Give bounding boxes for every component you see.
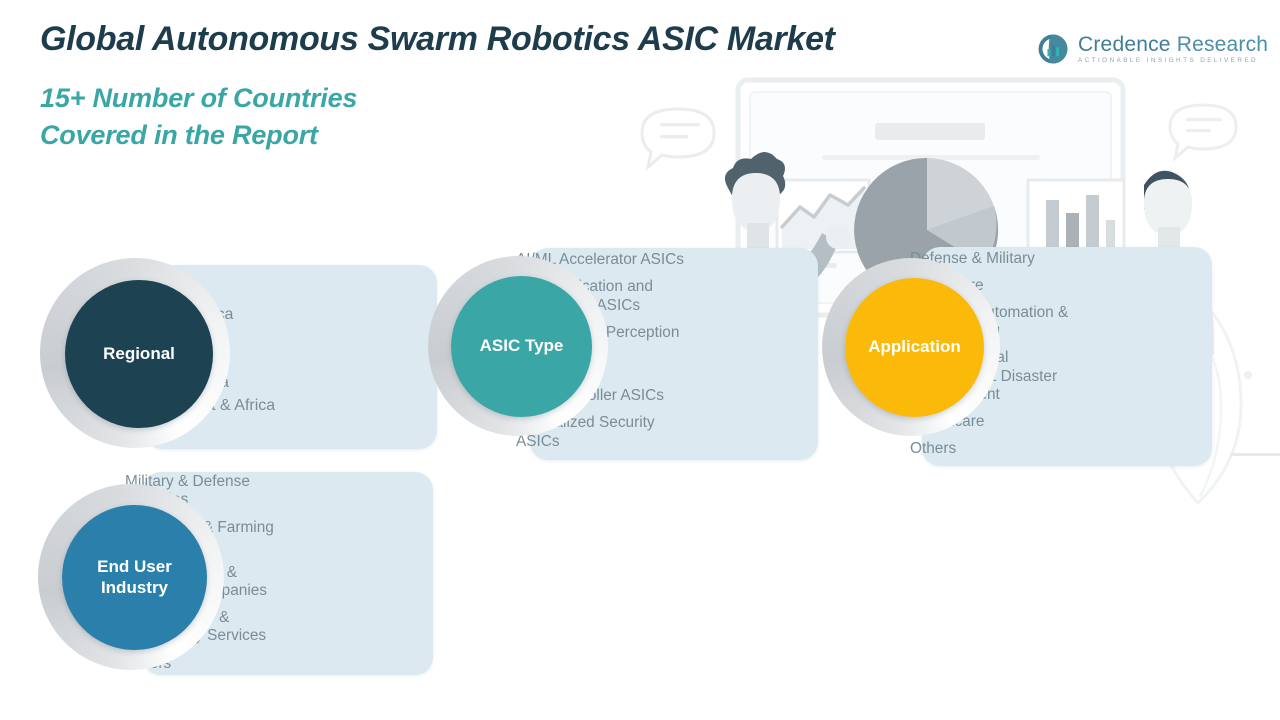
segment-end-user-industry: Military & Defense Agencies Agriculture … [38,468,438,678]
segment-regional: North America Europe Asia Pacific Latin … [40,258,440,463]
segment-asic-type: AI/ML Accelerator ASICs Communication an… [428,240,823,462]
hub-label: Application [845,278,984,417]
page-subtitle: 15+ Number of Countries Covered in the R… [40,80,357,155]
infographic-canvas: Global Autonomous Swarm Robotics ASIC Ma… [0,0,1280,720]
hub-label: End User Industry [62,505,207,650]
hub-label: ASIC Type [451,276,592,417]
page-subtitle-line-1: 15+ Number of Countries [40,80,357,117]
bar-chart-circle-icon [1036,32,1070,66]
speech-bubble-left [642,109,714,167]
page-subtitle-line-2: Covered in the Report [40,117,357,154]
segment-hub-regional[interactable]: Regional [40,258,230,448]
segment-hub-application[interactable]: Application [822,258,1000,436]
logo-wordmark: Credence Research Actionable Insights De… [1078,34,1268,64]
logo-name: Credence Research [1078,34,1268,55]
page-title: Global Autonomous Swarm Robotics ASIC Ma… [40,20,835,59]
speech-bubble-right [1170,105,1236,158]
credence-research-logo[interactable]: Credence Research Actionable Insights De… [1036,26,1252,72]
logo-tagline: Actionable Insights Delivered [1078,58,1268,64]
hub-label: Regional [65,280,213,428]
segment-hub-asic-type[interactable]: ASIC Type [428,256,608,436]
segment-hub-end-user-industry[interactable]: End User Industry [38,484,224,670]
list-item: Others [910,440,1204,458]
segment-application: Defense & Military Agriculture Industria… [822,240,1214,468]
logo-name-first: Credence [1078,33,1171,56]
logo-name-second: Research [1177,33,1268,56]
